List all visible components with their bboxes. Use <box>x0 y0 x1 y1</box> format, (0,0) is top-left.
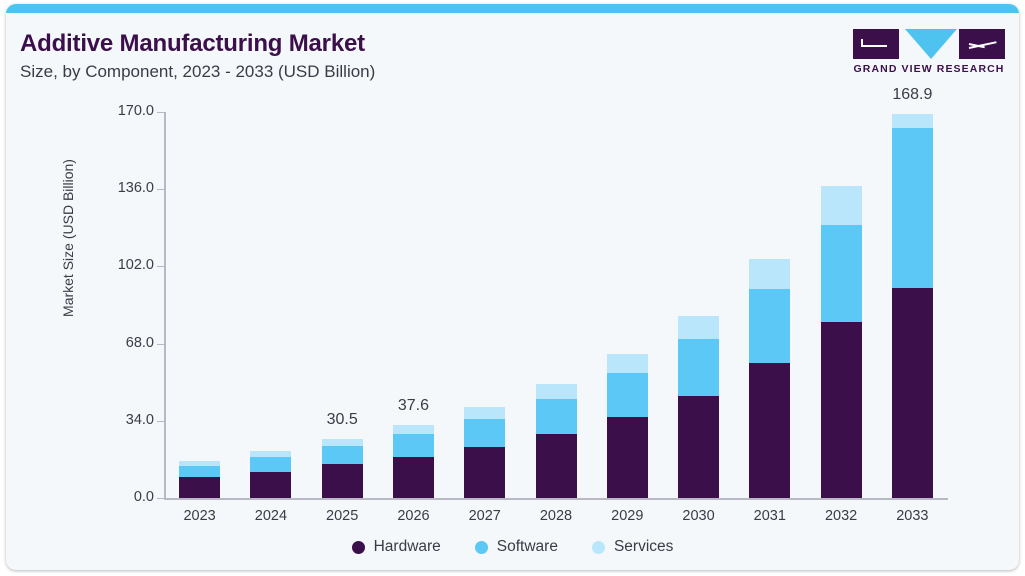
legend-item-software[interactable]: Software <box>475 538 558 556</box>
y-axis-tick-mark <box>157 189 164 190</box>
bar-segment-software[interactable] <box>607 373 648 418</box>
bar-segment-hardware[interactable] <box>536 434 577 498</box>
bar-segment-hardware[interactable] <box>322 464 363 498</box>
bar-segment-software[interactable] <box>250 457 291 471</box>
bar-segment-services[interactable] <box>250 451 291 457</box>
legend-label: Hardware <box>374 538 441 556</box>
bar-segment-software[interactable] <box>179 466 220 477</box>
bar-segment-hardware[interactable] <box>821 322 862 498</box>
bar-segment-services[interactable] <box>892 114 933 128</box>
legend-item-hardware[interactable]: Hardware <box>352 538 441 556</box>
bar-2024[interactable] <box>250 451 291 498</box>
legend-item-services[interactable]: Services <box>592 538 673 556</box>
bar-chart: Market Size (USD Billion) 0.034.068.0102… <box>6 4 1019 570</box>
legend-swatch-icon <box>592 541 605 554</box>
y-axis-tick-mark <box>157 421 164 422</box>
bar-value-label: 37.6 <box>368 397 458 415</box>
bar-2029[interactable] <box>607 354 648 498</box>
y-axis-tick-mark <box>157 344 164 345</box>
legend-swatch-icon <box>475 541 488 554</box>
y-axis-tick-label: 0.0 <box>94 489 154 505</box>
bar-segment-services[interactable] <box>821 186 862 225</box>
x-axis-tick-label: 2033 <box>867 508 957 524</box>
x-axis-line <box>164 498 948 500</box>
bar-segment-software[interactable] <box>678 339 719 396</box>
bar-segment-services[interactable] <box>536 384 577 399</box>
bar-2032[interactable] <box>821 186 862 498</box>
y-axis-tick-label: 34.0 <box>94 412 154 428</box>
bar-segment-services[interactable] <box>179 461 220 466</box>
y-axis-tick-label: 136.0 <box>94 180 154 196</box>
bar-value-label: 168.9 <box>867 86 957 104</box>
bar-segment-hardware[interactable] <box>749 363 790 498</box>
bar-2025[interactable] <box>322 439 363 498</box>
y-axis-line <box>164 112 166 499</box>
legend-label: Software <box>497 538 558 556</box>
bar-segment-hardware[interactable] <box>250 472 291 498</box>
bar-segment-services[interactable] <box>393 425 434 434</box>
bar-2031[interactable] <box>749 259 790 498</box>
bar-segment-hardware[interactable] <box>393 457 434 498</box>
y-axis-tick-label: 102.0 <box>94 257 154 273</box>
bar-segment-services[interactable] <box>678 316 719 339</box>
legend-swatch-icon <box>352 541 365 554</box>
y-axis-tick-mark <box>157 266 164 267</box>
y-axis-tick-mark <box>157 112 164 113</box>
bar-segment-software[interactable] <box>322 446 363 464</box>
bar-segment-software[interactable] <box>749 289 790 363</box>
bar-2028[interactable] <box>536 384 577 498</box>
bar-segment-hardware[interactable] <box>179 477 220 498</box>
bar-segment-services[interactable] <box>322 439 363 446</box>
bar-2027[interactable] <box>464 407 505 498</box>
bar-segment-hardware[interactable] <box>678 396 719 498</box>
bar-segment-hardware[interactable] <box>892 288 933 498</box>
y-axis-title: Market Size (USD Billion) <box>60 138 76 338</box>
bar-2033[interactable] <box>892 114 933 498</box>
bar-segment-software[interactable] <box>393 434 434 456</box>
bar-segment-services[interactable] <box>749 259 790 289</box>
bar-segment-hardware[interactable] <box>464 447 505 498</box>
bar-segment-software[interactable] <box>536 399 577 434</box>
bar-2026[interactable] <box>393 425 434 498</box>
chart-legend: HardwareSoftwareServices <box>6 538 1019 556</box>
bar-segment-hardware[interactable] <box>607 417 648 498</box>
y-axis-tick-mark <box>157 498 164 499</box>
bar-segment-software[interactable] <box>821 225 862 322</box>
bar-segment-software[interactable] <box>892 128 933 288</box>
chart-card: Additive Manufacturing Market Size, by C… <box>6 4 1019 570</box>
bar-2030[interactable] <box>678 316 719 498</box>
y-axis-tick-label: 68.0 <box>94 335 154 351</box>
bar-segment-services[interactable] <box>607 354 648 372</box>
legend-label: Services <box>614 538 673 556</box>
y-axis-tick-label: 170.0 <box>94 103 154 119</box>
bar-2023[interactable] <box>179 461 220 498</box>
bar-segment-services[interactable] <box>464 407 505 419</box>
bar-segment-software[interactable] <box>464 419 505 447</box>
